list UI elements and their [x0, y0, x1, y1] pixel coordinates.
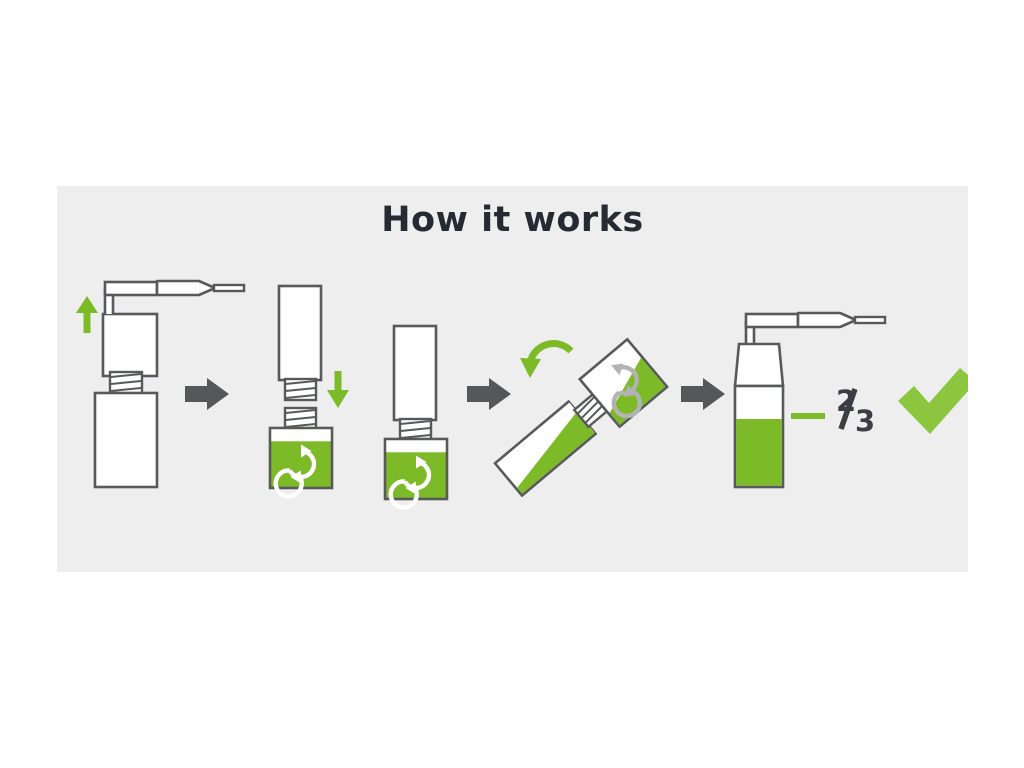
step-2-group: [270, 286, 349, 496]
right-arrow-icon-3: [681, 378, 725, 410]
step-4-group: [489, 339, 668, 503]
step-5-group: 2 3: [735, 313, 968, 487]
spray-pump-head: [103, 281, 244, 376]
green-refill-bottle-seated: [385, 439, 447, 507]
right-arrow-icon-1: [185, 378, 229, 410]
right-arrow-icon-2: [467, 378, 511, 410]
fill-level-denominator: 3: [855, 404, 875, 438]
fill-level-marker: 2 3: [791, 384, 875, 438]
refill-cartridge: [279, 286, 321, 400]
check-mark-icon: [898, 368, 968, 434]
empty-bottle-with-thread: [95, 372, 157, 487]
rotate-arrow-icon: [520, 344, 571, 378]
step-3-group: [385, 326, 447, 507]
up-arrow-icon: [76, 296, 98, 333]
infographic-panel: How it works: [57, 186, 968, 572]
refill-cartridge-seated: [394, 326, 436, 440]
green-refill-bottle: [270, 408, 332, 496]
tilted-refill-assembly: [489, 339, 668, 503]
down-arrow-icon: [327, 371, 349, 408]
how-it-works-illustration: 2 3: [57, 186, 968, 572]
filled-spray-bottle: [735, 313, 885, 487]
step-1-group: [76, 281, 244, 487]
